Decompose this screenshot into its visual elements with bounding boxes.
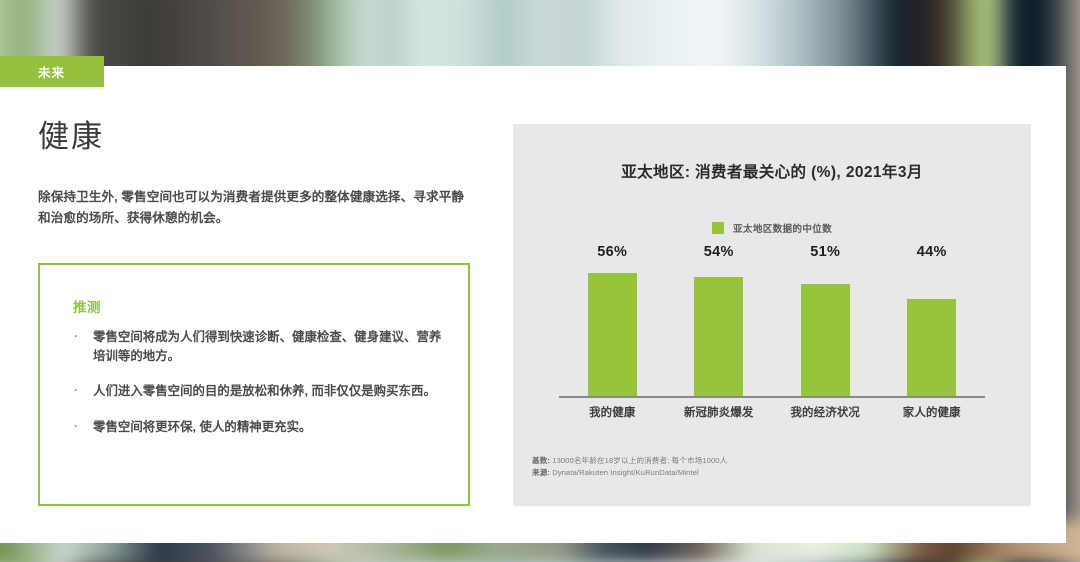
section-tag: 未来 <box>0 56 104 87</box>
slide: 未来 健康 除保持卫生外, 零售空间也可以为消费者提供更多的整体健康选择、寻求平… <box>0 0 1080 562</box>
list-item: · 零售空间将更环保, 使人的精神更充实。 <box>73 418 444 437</box>
chart-axis-line <box>559 396 985 398</box>
footnote-base-value: 13000名年龄在18岁以上的消费者; 每个市场1000人 <box>550 456 727 465</box>
footnote-base-line: 基数: 13000名年龄在18岁以上的消费者; 每个市场1000人 <box>532 455 727 467</box>
bar-value-label: 51% <box>810 244 840 260</box>
chart-category-labels: 我的健康 新冠肺炎爆发 我的经济状况 家人的健康 <box>559 404 985 420</box>
left-column: 健康 除保持卫生外, 零售空间也可以为消费者提供更多的整体健康选择、寻求平静和治… <box>38 118 478 229</box>
bullet-icon: · <box>74 381 78 400</box>
footnote-source-key: 来源: <box>532 468 550 477</box>
bar-rect <box>588 273 637 396</box>
category-label: 家人的健康 <box>879 404 986 420</box>
bar-rect <box>694 277 743 396</box>
intro-paragraph: 除保持卫生外, 零售空间也可以为消费者提供更多的整体健康选择、寻求平静和治愈的场… <box>38 187 474 229</box>
chart-footnote: 基数: 13000名年龄在18岁以上的消费者; 每个市场1000人 来源: Dy… <box>532 455 727 479</box>
chart-panel: 亚太地区: 消费者最关心的 (%), 2021年3月 亚太地区数据的中位数 56… <box>513 124 1031 506</box>
bullet-icon: · <box>74 417 78 436</box>
prediction-list: · 零售空间将成为人们得到快速诊断、健康检查、健身建议、营养培训等的地方。 · … <box>73 328 444 453</box>
prediction-title: 推测 <box>73 296 101 316</box>
bar-value-label: 56% <box>597 244 627 260</box>
bullet-icon: · <box>74 327 78 346</box>
footnote-source-value: Dynata/Rakuten Insight/KuRunData/Mintel <box>550 468 699 477</box>
chart-title: 亚太地区: 消费者最关心的 (%), 2021年3月 <box>513 160 1031 182</box>
category-label: 我的经济状况 <box>772 404 879 420</box>
bar-slot: 51% <box>772 264 879 396</box>
prediction-box: 推测 · 零售空间将成为人们得到快速诊断、健康检查、健身建议、营养培训等的地方。… <box>38 263 470 506</box>
bar-value-label: 54% <box>704 244 734 260</box>
bar-slot: 56% <box>559 264 666 396</box>
footnote-source-line: 来源: Dynata/Rakuten Insight/KuRunData/Min… <box>532 467 727 479</box>
chart-legend: 亚太地区数据的中位数 <box>513 221 1031 235</box>
bar-slot: 44% <box>879 264 986 396</box>
category-label: 我的健康 <box>559 404 666 420</box>
bar-rect <box>801 284 850 396</box>
list-item: · 零售空间将成为人们得到快速诊断、健康检查、健身建议、营养培训等的地方。 <box>73 328 444 366</box>
legend-swatch-icon <box>712 222 724 234</box>
list-item: · 人们进入零售空间的目的是放松和休养, 而非仅仅是购买东西。 <box>73 382 444 401</box>
bar-slot: 54% <box>666 264 773 396</box>
footnote-base-key: 基数: <box>532 456 550 465</box>
list-item-text: 人们进入零售空间的目的是放松和休养, 而非仅仅是购买东西。 <box>93 384 436 398</box>
bar-value-label: 44% <box>917 244 947 260</box>
bar-group: 56% 54% 51% 44% <box>559 264 985 396</box>
page-title: 健康 <box>38 118 478 155</box>
list-item-text: 零售空间将成为人们得到快速诊断、健康检查、健身建议、营养培训等的地方。 <box>93 330 441 363</box>
chart-plot-area: 56% 54% 51% 44% <box>559 264 985 398</box>
section-tag-label: 未来 <box>38 62 65 81</box>
bar-rect <box>907 299 956 396</box>
list-item-text: 零售空间将更环保, 使人的精神更充实。 <box>93 420 311 434</box>
legend-label: 亚太地区数据的中位数 <box>733 221 832 235</box>
category-label: 新冠肺炎爆发 <box>666 404 773 420</box>
